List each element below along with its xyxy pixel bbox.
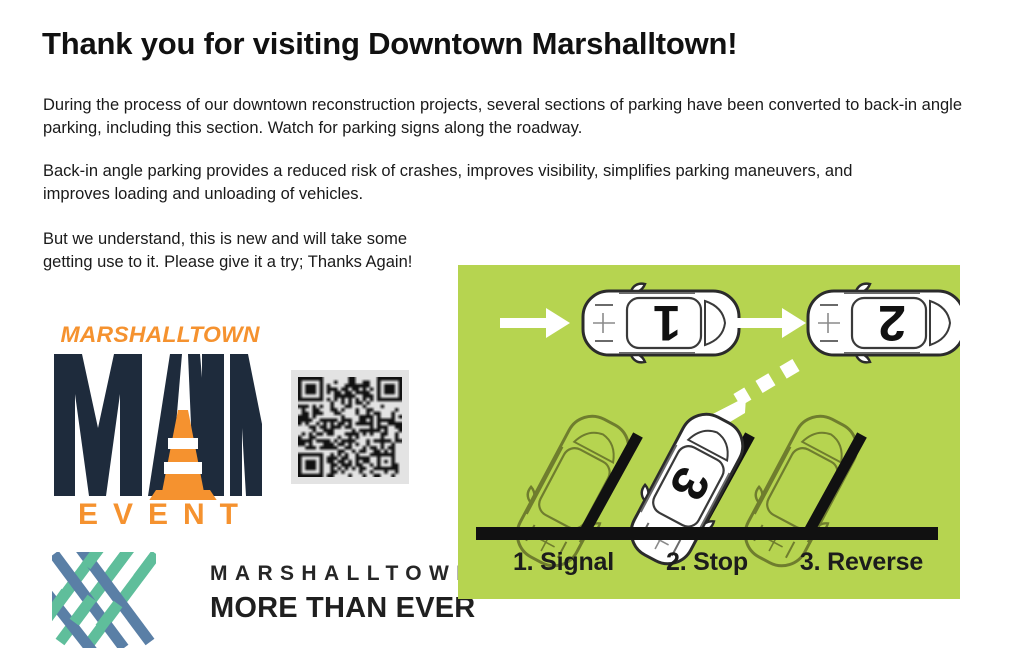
arrow-right-icon-1 (500, 308, 570, 338)
main-event-logo-wordmark (52, 350, 264, 500)
woven-chevron-mark-icon (52, 552, 156, 648)
more-than-ever-line-2: MORE THAN EVER (210, 592, 479, 625)
car-2: 2 (808, 284, 960, 363)
more-than-ever-line-1: MARSHALLTOWN (210, 562, 479, 586)
main-event-logo-bottom-word: EVENT (52, 498, 264, 532)
body-paragraph-2: Back-in angle parking provides a reduced… (43, 160, 923, 206)
car-1: 1 (583, 284, 739, 363)
qr-code-image (298, 377, 402, 477)
dashed-reverse-arrow-icon (711, 365, 796, 422)
diagram-captions: 1. Signal 2. Stop 3. Reverse (458, 548, 960, 577)
body-paragraph-1: During the process of our downtown recon… (43, 94, 963, 140)
caption-reverse: 3. Reverse (800, 548, 923, 577)
back-in-angle-parking-diagram: 1 2 (458, 265, 960, 599)
qr-code[interactable] (291, 370, 409, 484)
arrow-right-icon-2 (736, 308, 806, 338)
main-event-logo-top-word: MARSHALLTOWN (55, 322, 265, 348)
marshalltown-main-event-logo: MARSHALLTOWN EVENT (52, 322, 264, 537)
marshalltown-more-than-ever-logo: MARSHALLTOWN MORE THAN EVER (52, 552, 442, 650)
car-1-number: 1 (653, 295, 681, 351)
page-title: Thank you for visiting Downtown Marshall… (42, 26, 942, 62)
curb-line (476, 527, 938, 540)
caption-signal: 1. Signal (513, 548, 614, 577)
body-paragraph-3: But we understand, this is new and will … (43, 228, 443, 274)
car-2-number: 2 (878, 295, 906, 351)
caption-stop: 2. Stop (666, 548, 748, 577)
